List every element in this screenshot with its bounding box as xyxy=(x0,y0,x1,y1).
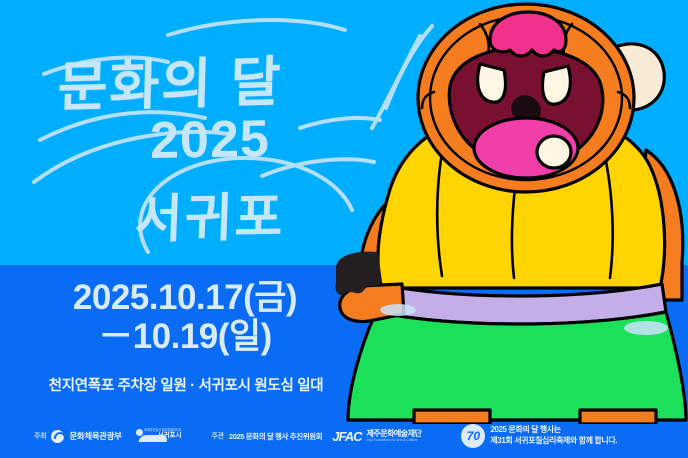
sponsor-footer: 주최 문화체육관광부 세계자연유산 제주특별자치도 서귀포시 주관 2025 문… xyxy=(0,414,688,458)
seogwipo-name: 서귀포시 xyxy=(144,432,182,439)
seogwipo-wordmark: 세계자연유산 제주특별자치도 서귀포시 xyxy=(144,429,182,440)
organizer-label: 주관 xyxy=(211,431,223,441)
seventy-badge-icon: 70 xyxy=(461,424,485,448)
taegeuk-swirl-icon xyxy=(51,430,64,443)
festival-poster: 문화의 달 2025 서귀포 2025.10.17(금) －10.19(일) 천… xyxy=(0,0,688,458)
festival-note-group: 70 2025 문화의 달 행사는 제31회 서귀포칠십리축제와 함께 합니다. xyxy=(461,424,617,448)
event-venue: 천지연폭포 주차장 일원 · 서귀포시 원도심 일대 xyxy=(0,374,372,395)
host-org-name: 문화체육관광부 xyxy=(69,430,121,442)
title-location: 서귀포 xyxy=(134,175,287,253)
poster-title-group: 문화의 달 2025 서귀포 xyxy=(0,18,400,258)
jfac-group: JFAC 제주문화예술재단 Jeju Foundation for Arts &… xyxy=(332,429,421,444)
title-year: 2025 xyxy=(149,109,270,171)
host-group: 주최 문화체육관광부 xyxy=(34,430,121,443)
date-line-start: 2025.10.17(금) xyxy=(0,278,370,317)
festival-note-line-2: 제31회 서귀포칠십리축제와 함께 합니다. xyxy=(490,436,617,447)
organizer-group: 주관 2025 문화의 달 행사 추진위원회 xyxy=(211,431,322,442)
event-dates: 2025.10.17(금) －10.19(일) xyxy=(0,278,370,356)
sun-and-hill-icon: 세계자연유산 제주특별자치도 서귀포시 xyxy=(135,428,181,445)
festival-note-line-1: 2025 문화의 달 행사는 xyxy=(490,425,617,436)
jfac-logo: JFAC xyxy=(332,429,361,444)
jfac-wordmark: 제주문화예술재단 Jeju Foundation for Arts & Cult… xyxy=(366,430,421,443)
organizer-org-name: 2025 문화의 달 행사 추진위원회 xyxy=(229,431,322,442)
sun-icon xyxy=(136,429,143,436)
host-label: 주최 xyxy=(34,431,46,441)
festival-note: 2025 문화의 달 행사는 제31회 서귀포칠십리축제와 함께 합니다. xyxy=(490,425,617,447)
jfac-name-roman: Jeju Foundation for Arts & Culture xyxy=(366,439,421,443)
date-line-end: －10.19(일) xyxy=(0,317,370,356)
